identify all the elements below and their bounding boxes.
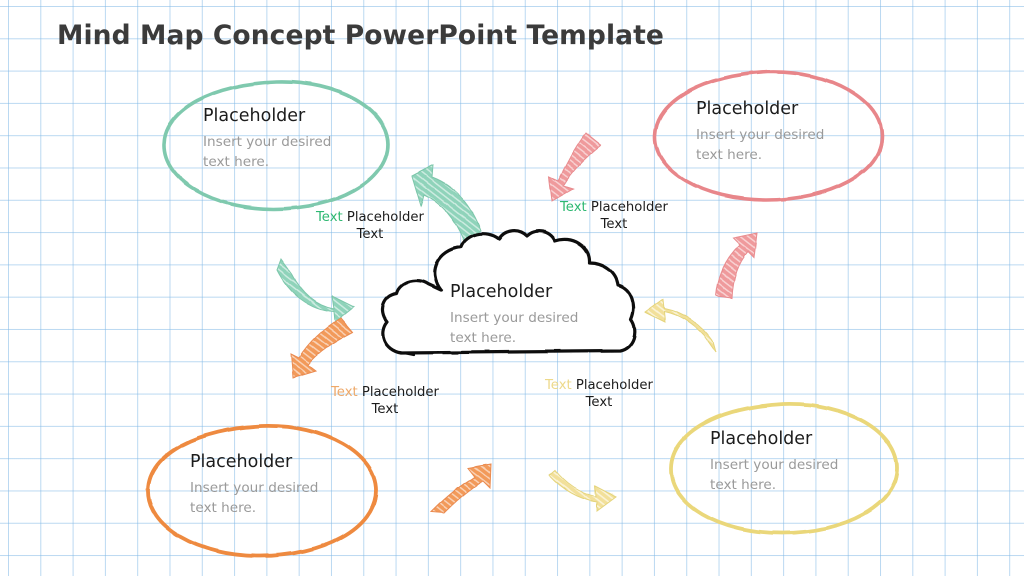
- connector-accent-bottom-right: Text: [545, 378, 572, 393]
- node-body-top-right: Insert your desired text here.: [696, 125, 824, 166]
- connector-label-top-right: Text Placeholder Text: [560, 200, 668, 234]
- node-body-bottom-right: Insert your desired text here.: [710, 455, 838, 496]
- node-body-line1-bottom-right: Insert your desired: [710, 457, 838, 473]
- node-body-top-left: Insert your desired text here.: [203, 132, 331, 173]
- connector-rest-bottom-right: Placeholder: [572, 378, 653, 393]
- node-body-line2-top-left: text here.: [203, 154, 269, 170]
- node-body-line2-bottom-right: text here.: [710, 477, 776, 493]
- node-heading-bottom-left: Placeholder: [190, 452, 318, 473]
- cloud-heading: Placeholder: [450, 282, 578, 303]
- connector-line2-top-right: Text: [560, 217, 668, 234]
- node-body-line1-top-left: Insert your desired: [203, 134, 331, 150]
- connector-label-top-left: Text Placeholder Text: [316, 210, 424, 244]
- node-text-top-left: Placeholder Insert your desired text her…: [203, 106, 331, 173]
- node-text-bottom-left: Placeholder Insert your desired text her…: [190, 452, 318, 519]
- cloud-body-line1: Insert your desired: [450, 310, 578, 326]
- connector-rest-top-right: Placeholder: [587, 200, 668, 215]
- node-text-bottom-right: Placeholder Insert your desired text her…: [710, 429, 838, 496]
- node-body-bottom-left: Insert your desired text here.: [190, 478, 318, 519]
- connector-accent-top-left: Text: [316, 210, 343, 225]
- connector-rest-top-left: Placeholder: [343, 210, 424, 225]
- connector-label-bottom-left: Text Placeholder Text: [331, 385, 439, 419]
- node-body-line1-top-right: Insert your desired: [696, 127, 824, 143]
- node-heading-bottom-right: Placeholder: [710, 429, 838, 450]
- node-body-line2-top-right: text here.: [696, 147, 762, 163]
- node-text-top-right: Placeholder Insert your desired text her…: [696, 99, 824, 166]
- node-heading-top-left: Placeholder: [203, 106, 331, 127]
- slide-canvas: Mind Map Concept PowerPoint Template: [0, 0, 1024, 576]
- cloud-body: Insert your desired text here.: [450, 308, 578, 349]
- cloud-text-block: Placeholder Insert your desired text her…: [450, 282, 578, 349]
- connector-line2-bottom-left: Text: [331, 402, 439, 419]
- cloud-body-line2: text here.: [450, 330, 516, 346]
- node-heading-top-right: Placeholder: [696, 99, 824, 120]
- connector-rest-bottom-left: Placeholder: [358, 385, 439, 400]
- node-body-line2-bottom-left: text here.: [190, 500, 256, 516]
- connector-line2-bottom-right: Text: [545, 395, 653, 412]
- connector-accent-bottom-left: Text: [331, 385, 358, 400]
- connector-line2-top-left: Text: [316, 227, 424, 244]
- connector-label-bottom-right: Text Placeholder Text: [545, 378, 653, 412]
- connector-accent-top-right: Text: [560, 200, 587, 215]
- node-body-line1-bottom-left: Insert your desired: [190, 480, 318, 496]
